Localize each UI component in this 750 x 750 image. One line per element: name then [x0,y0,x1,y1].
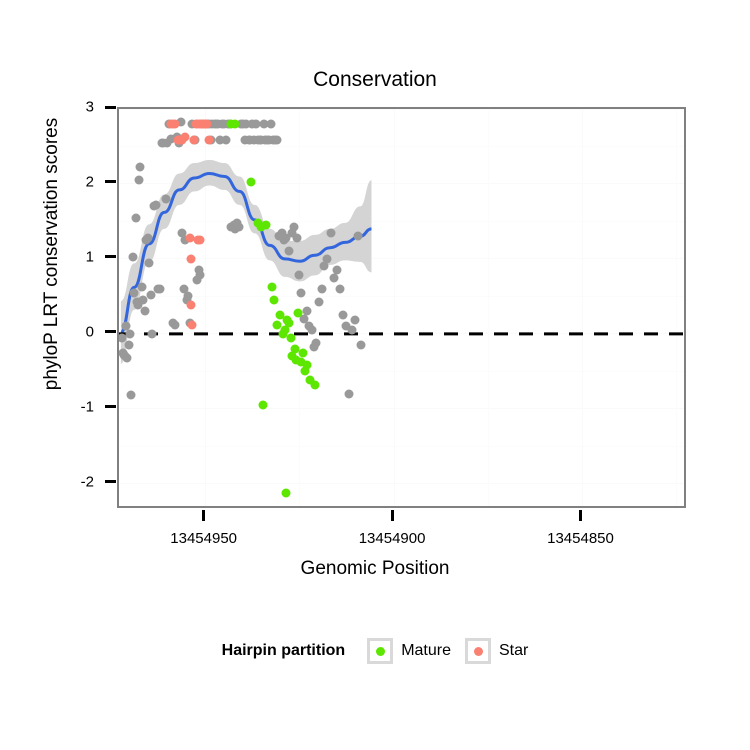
data-point-other [312,338,321,347]
y-axis-tick-label: 2 [64,173,94,190]
y-axis-title: phyloP LRT conservation scores [41,54,63,454]
data-point-other [285,247,294,256]
y-axis-tick-label: 1 [64,248,94,265]
data-point-other [143,233,152,242]
data-point-other [170,320,179,329]
data-point-mature [246,178,255,187]
y-axis-tick [105,330,116,333]
data-point-mature [258,401,267,410]
data-point-other [222,136,231,145]
legend-title: Hairpin partition [222,642,346,660]
data-point-other [272,136,281,145]
data-point-star [203,119,212,128]
y-axis-tick [105,255,116,258]
x-axis-tick [202,510,205,521]
x-axis-tick [391,510,394,521]
legend-key-mature [367,638,393,664]
data-point-other [302,307,311,316]
legend: Hairpin partition MatureStar [0,638,750,664]
data-point-other [332,266,341,275]
data-point-other [140,307,149,316]
data-point-star [170,119,179,128]
data-point-mature [267,283,276,292]
data-point-star [189,136,198,145]
y-axis-tick [105,480,116,483]
data-point-other [234,223,243,232]
data-point-other [137,283,146,292]
legend-key-star [465,638,491,664]
legend-label: Star [499,642,528,660]
data-point-other [297,288,306,297]
legend-dot-icon [474,647,483,656]
data-point-other [307,326,316,335]
data-point-other [124,341,133,350]
data-point-other [356,341,365,350]
y-axis-tick [105,405,116,408]
data-point-other [151,200,160,209]
y-axis-tick [105,180,116,183]
data-point-other [344,389,353,398]
data-point-mature [298,348,307,357]
data-point-star [205,136,214,145]
y-axis-tick-label: -2 [64,473,94,490]
data-point-other [145,258,154,267]
data-point-mature [310,380,319,389]
data-point-other [338,311,347,320]
chart-root: Conservation phyloP LRT conservation sco… [0,0,750,750]
data-point-other [326,228,335,237]
data-point-mature [270,296,279,305]
data-point-other [196,271,205,280]
data-point-other [155,284,164,293]
data-point-other [295,271,304,280]
data-point-star [196,236,205,245]
data-point-other [267,119,276,128]
x-axis-tick-label: 13454950 [170,530,237,547]
data-point-other [127,391,136,400]
data-point-other [128,252,137,261]
data-point-star [188,320,197,329]
legend-item-star[interactable]: Star [465,638,528,664]
data-point-mature [231,119,240,128]
x-axis-title: Genomic Position [0,558,750,580]
legend-label: Mature [401,642,451,660]
data-point-other [292,233,301,242]
data-point-star [187,301,196,310]
data-point-mature [284,318,293,327]
data-point-other [289,223,298,232]
data-point-mature [303,361,312,370]
x-axis-tick-label: 13454850 [547,530,614,547]
data-point-other [347,326,356,335]
y-axis-tick-label: 3 [64,99,94,116]
legend-dot-icon [376,647,385,656]
data-point-other [148,329,157,338]
data-point-mature [286,333,295,342]
page-title: Conservation [0,68,750,92]
data-point-other [125,329,134,338]
data-point-other [353,232,362,241]
data-point-other [317,284,326,293]
legend-item-mature[interactable]: Mature [367,638,451,664]
data-point-other [131,213,140,222]
data-point-star [186,254,195,263]
x-axis-tick-label: 13454900 [359,530,426,547]
data-point-other [136,163,145,172]
data-point-other [335,284,344,293]
y-axis-tick [105,106,116,109]
data-point-mature [294,308,303,317]
y-axis-tick-label: -1 [64,398,94,415]
x-axis-tick [579,510,582,521]
data-point-other [323,254,332,263]
data-point-other [184,292,193,301]
loess-overlay [119,109,686,508]
data-point-mature [282,488,291,497]
data-point-other [315,298,324,307]
data-point-other [350,316,359,325]
data-point-other [135,176,144,185]
data-point-other [123,353,132,362]
data-point-other [161,194,170,203]
plot-area [119,109,684,506]
plot-panel [117,107,686,508]
y-axis-tick-label: 0 [64,323,94,340]
data-point-mature [261,221,270,230]
